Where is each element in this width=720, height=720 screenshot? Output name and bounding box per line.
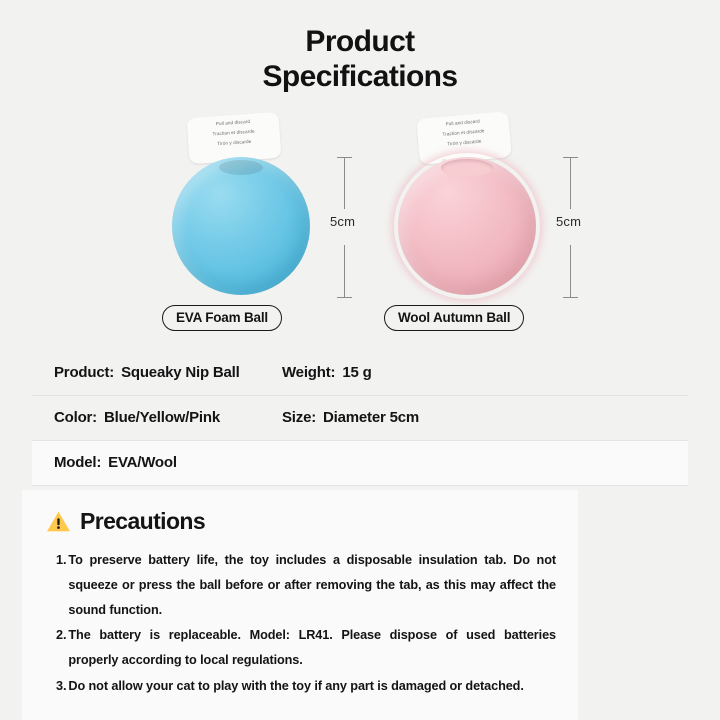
list-item-text: The battery is replaceable. Model: LR41.… (68, 623, 556, 673)
list-item-number: 1. (56, 548, 66, 622)
wool-ball-image (398, 157, 536, 295)
spec-key: Color: (54, 409, 97, 426)
spec-value: Squeaky Nip Ball (121, 364, 240, 381)
warning-triangle-icon (46, 510, 71, 533)
list-item: 3. Do not allow your cat to play with th… (46, 674, 556, 699)
list-item-number: 2. (56, 623, 66, 673)
list-item: 1. To preserve battery life, the toy inc… (46, 548, 556, 622)
product-showcase: Pull and discard Traction et discarde Ti… (0, 109, 720, 339)
spec-key: Model: (54, 454, 101, 471)
spec-key: Weight: (282, 364, 335, 381)
dimension-rule-lower (344, 245, 345, 297)
dimension-rule-upper (570, 157, 571, 209)
precautions-panel: Precautions 1. To preserve battery life,… (22, 490, 578, 720)
spec-cell-color: Color: Blue/Yellow/Pink (54, 409, 282, 426)
product-name-pill-eva: EVA Foam Ball (162, 305, 282, 331)
list-item-text: Do not allow your cat to play with the t… (68, 674, 556, 699)
spec-value: Blue/Yellow/Pink (104, 409, 220, 426)
dimension-label: 5cm (556, 214, 581, 229)
dimension-rule-upper (344, 157, 345, 209)
list-item-text: To preserve battery life, the toy includ… (68, 548, 556, 622)
spec-key: Size: (282, 409, 316, 426)
table-row: Model: EVA/Wool (32, 441, 688, 486)
dimension-label: 5cm (330, 214, 355, 229)
foam-ball-image (172, 157, 310, 295)
table-row: Color: Blue/Yellow/Pink Size: Diameter 5… (32, 396, 688, 441)
spec-cell-product: Product: Squeaky Nip Ball (54, 364, 282, 381)
spec-value: 15 g (342, 364, 371, 381)
spec-cell-model: Model: EVA/Wool (54, 454, 282, 471)
ball-opening (219, 160, 263, 175)
product-eva-foam-ball: Pull and discard Traction et discarde Ti… (150, 109, 370, 339)
product-wool-autumn-ball: Pull and discard Traction et discarde Ti… (370, 109, 590, 339)
list-item-number: 3. (56, 674, 66, 699)
spec-cell-weight: Weight: 15 g (282, 364, 372, 381)
ball-opening (441, 159, 493, 177)
spec-value: EVA/Wool (108, 454, 177, 471)
product-name-pill-wool: Wool Autumn Ball (384, 305, 524, 331)
title-line-2: Specifications (0, 59, 720, 94)
precautions-title: Precautions (80, 508, 205, 535)
pull-tab-sticker: Pull and discard Traction et discarde Ti… (187, 112, 282, 164)
dimension-cap-bottom (563, 297, 578, 298)
title-line-1: Product (0, 24, 720, 59)
spec-key: Product: (54, 364, 114, 381)
list-item: 2. The battery is replaceable. Model: LR… (46, 623, 556, 673)
spec-value: Diameter 5cm (323, 409, 419, 426)
page-title: Product Specifications (0, 0, 720, 95)
dimension-cap-bottom (337, 297, 352, 298)
spec-cell-size: Size: Diameter 5cm (282, 409, 419, 426)
precautions-header: Precautions (46, 508, 556, 535)
dimension-rule-lower (570, 245, 571, 297)
specifications-table: Product: Squeaky Nip Ball Weight: 15 g C… (32, 351, 688, 486)
precautions-list: 1. To preserve battery life, the toy inc… (46, 548, 556, 699)
dimension-callout: 5cm (548, 151, 608, 301)
table-row: Product: Squeaky Nip Ball Weight: 15 g (32, 351, 688, 396)
